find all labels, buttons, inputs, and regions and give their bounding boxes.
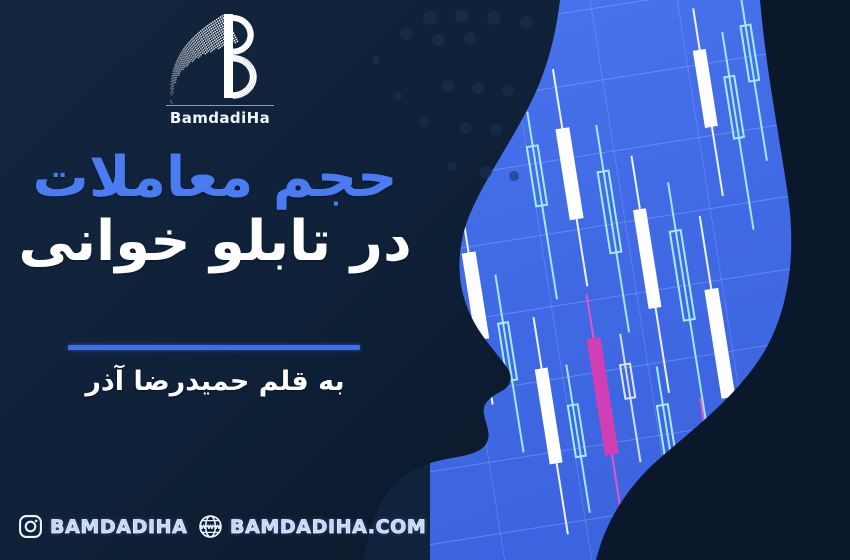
footer-bar: BAMDADIHA www BAMDADIHA.COM bbox=[0, 498, 850, 560]
cyan-trend-rule-wrap bbox=[430, 0, 850, 560]
banner-canvas: BamdadiHa حجم معاملات در تابلو خوانی به … bbox=[0, 0, 850, 560]
footer-instagram[interactable]: BAMDADIHA bbox=[18, 514, 187, 539]
headline-line-2: در تابلو خوانی bbox=[0, 212, 430, 272]
footer-website[interactable]: www BAMDADIHA.COM bbox=[198, 514, 426, 539]
halftone-letter-b-icon bbox=[160, 8, 280, 104]
headline-line-1: حجم معاملات bbox=[0, 148, 430, 208]
footer-instagram-label: BAMDADIHA bbox=[50, 516, 187, 538]
footer-website-label: BAMDADIHA.COM bbox=[230, 516, 426, 538]
author-byline: به قلم حمیدرضا آذر bbox=[0, 366, 430, 397]
brand-logo: BamdadiHa bbox=[160, 8, 280, 133]
logo-divider bbox=[166, 105, 274, 106]
headline-divider bbox=[68, 345, 360, 350]
globe-www-icon: www bbox=[198, 514, 223, 539]
logo-wordmark: BamdadiHa bbox=[160, 109, 280, 127]
svg-text:www: www bbox=[200, 522, 221, 531]
instagram-icon bbox=[18, 514, 43, 539]
headline-block: حجم معاملات در تابلو خوانی bbox=[0, 148, 430, 273]
candlestick-chart-panel bbox=[430, 0, 850, 560]
